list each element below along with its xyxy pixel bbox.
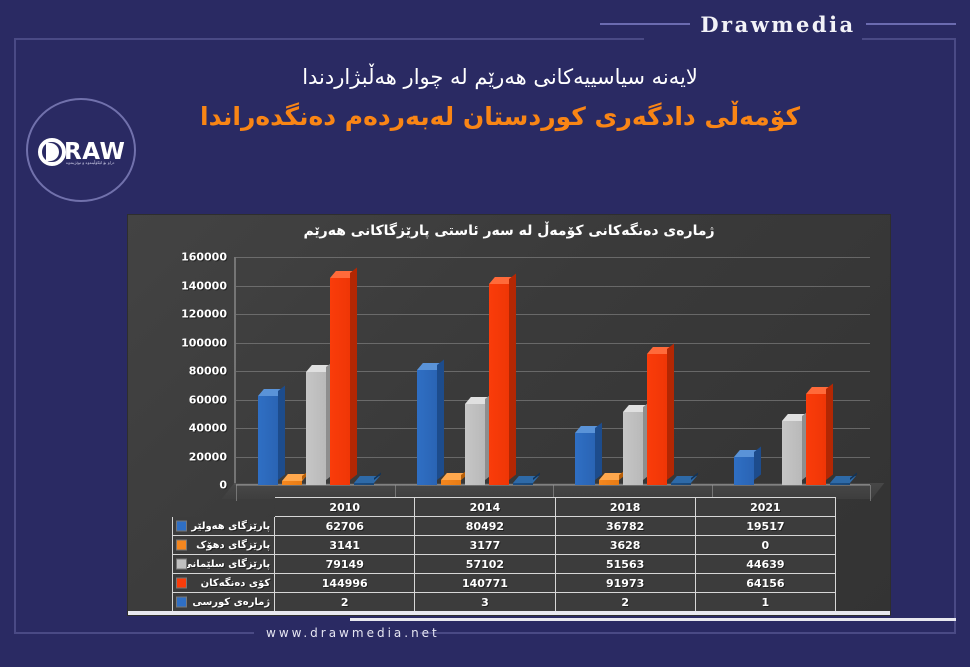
headline-block: لایەنە سیاسییەکانی هەرێم لە چوار هەڵبژار…	[150, 62, 850, 136]
footer: www.drawmedia.net	[14, 622, 956, 644]
chart-bar	[258, 396, 278, 485]
bar-front-face	[513, 483, 533, 485]
table-cell-value: 57102	[415, 555, 555, 574]
legend-label: پارێزگای سلێمانی	[182, 559, 270, 570]
legend-label: کۆی دەنگەکان	[201, 578, 271, 589]
bar-front-face	[671, 483, 691, 485]
bar-front-face	[306, 372, 326, 485]
table-cell-value: 0	[695, 536, 835, 555]
chart-bar	[306, 372, 326, 485]
chart-plot-area: 1600001400001200001000008000060000400002…	[236, 257, 870, 485]
brand-header: Drawmedia	[600, 6, 956, 42]
table-row-label: پارێزگای دهۆک	[173, 536, 275, 555]
table-cell-value: 64156	[695, 574, 835, 593]
chart-data-table: 2010201420182021 پارێزگای هەولێر62706804…	[172, 497, 836, 612]
table-cell-value: 1	[695, 593, 835, 612]
table-row-label: ژمارەی کورسی	[173, 593, 275, 612]
table-cell-value: 140771	[415, 574, 555, 593]
legend-label: پارێزگای دهۆک	[196, 540, 270, 551]
table-row: پارێزگای سلێمانی79149571025156344639	[173, 555, 836, 574]
chart-bar	[489, 284, 509, 485]
table-column-header-year: 2021	[695, 498, 835, 517]
table-row-label: پارێزگای سلێمانی	[173, 555, 275, 574]
table-row: کۆی دەنگەکان1449961407719197364156	[173, 574, 836, 593]
table-row: پارێزگای دهۆک3141317736280	[173, 536, 836, 555]
y-axis-tick-label: 160000	[181, 251, 227, 264]
bar-front-face	[782, 421, 802, 485]
table-row: ژمارەی کورسی2321	[173, 593, 836, 612]
table-cell-value: 36782	[555, 517, 695, 536]
bar-side-face	[509, 274, 516, 480]
headline-line-1: لایەنە سیاسییەکانی هەرێم لە چوار هەڵبژار…	[150, 62, 850, 92]
chart-bar	[282, 481, 302, 485]
y-axis-tick-label: 40000	[189, 422, 227, 435]
brand-title: Drawmedia	[700, 12, 855, 37]
bar-side-face	[667, 343, 674, 480]
table-cell-value: 3177	[415, 536, 555, 555]
table-cell-value: 144996	[275, 574, 415, 593]
table-cell-value: 3141	[275, 536, 415, 555]
footer-rule-right-divider	[452, 632, 956, 634]
chart-bar	[441, 480, 461, 485]
bar-side-face	[437, 360, 444, 480]
table-row-label: پارێزگای هەولێر	[173, 517, 275, 536]
brand-rule-left-divider	[600, 23, 690, 25]
chart-bar	[465, 404, 485, 485]
bar-front-face	[330, 278, 350, 485]
brand-rule-right-divider	[866, 23, 956, 25]
bar-side-face	[595, 422, 602, 480]
chart-bar-seats	[671, 483, 691, 485]
bar-side-face	[278, 385, 285, 480]
y-axis-tick-label: 80000	[189, 365, 227, 378]
legend-label: پارێزگای هەولێر	[191, 521, 270, 532]
bar-front-face	[806, 394, 826, 485]
table-column-header-year: 2018	[555, 498, 695, 517]
legend-swatch-icon	[176, 597, 187, 608]
bar-front-face	[354, 483, 374, 485]
logo-mark: RAW	[38, 132, 126, 172]
chart-panel: ژمارەی دەنگەکانی کۆمەڵ لە سەر ئاستی پارێ…	[128, 215, 890, 615]
legend-label: ژمارەی کورسی	[192, 597, 270, 608]
logo-subtitle: دراو بۆ لێکۆڵینەوە و توێژینەوە	[66, 160, 114, 165]
bar-side-face	[350, 268, 357, 480]
table-cell-value: 79149	[275, 555, 415, 574]
y-axis-tick-label: 60000	[189, 393, 227, 406]
bar-front-face	[623, 412, 643, 485]
chart-bar-seats	[354, 483, 374, 485]
chart-bar	[782, 421, 802, 485]
bar-front-face	[830, 483, 850, 485]
chart-bar	[417, 370, 437, 485]
headline-line-2: کۆمەڵی دادگەری کوردستان لەبەردەم دەنگدەر…	[150, 98, 850, 136]
footer-accent-bar	[350, 618, 956, 621]
table-cell-value: 3628	[555, 536, 695, 555]
table-header-row: 2010201420182021	[173, 498, 836, 517]
legend-swatch-icon	[176, 521, 187, 532]
table-cell-value: 19517	[695, 517, 835, 536]
y-axis-tick-label: 0	[219, 479, 227, 492]
chart-bar	[734, 457, 754, 485]
chart-bar	[647, 354, 667, 485]
draw-logo: RAW دراو بۆ لێکۆڵینەوە و توێژینەوە	[26, 98, 136, 202]
footer-website-url: www.drawmedia.net	[266, 626, 440, 640]
chart-title: ژمارەی دەنگەکانی کۆمەڵ لە سەر ئاستی پارێ…	[128, 223, 890, 239]
data-table-head: 2010201420182021	[173, 498, 836, 517]
table-cell-value: 44639	[695, 555, 835, 574]
table-cell-value: 91973	[555, 574, 695, 593]
table-column-header-year: 2014	[415, 498, 555, 517]
bar-front-face	[282, 481, 302, 485]
bar-side-face	[691, 473, 698, 480]
bar-group	[553, 257, 712, 485]
bar-front-face	[575, 433, 595, 485]
bar-side-face	[374, 473, 381, 480]
bar-group	[712, 257, 871, 485]
frame-border-left	[14, 38, 16, 634]
bar-front-face	[647, 354, 667, 485]
bar-side-face	[754, 447, 761, 480]
bar-front-face	[417, 370, 437, 485]
chart-bar	[599, 480, 619, 485]
y-axis-tick-label: 140000	[181, 279, 227, 292]
y-axis-tick-label: 20000	[189, 450, 227, 463]
bar-front-face	[599, 480, 619, 485]
y-axis-tick-label: 120000	[181, 308, 227, 321]
bar-front-face	[441, 480, 461, 485]
table-corner-cell	[173, 498, 275, 517]
table-cell-value: 80492	[415, 517, 555, 536]
table-cell-value: 51563	[555, 555, 695, 574]
table-row: پارێزگای هەولێر62706804923678219517	[173, 517, 836, 536]
y-axis-tick-label: 100000	[181, 336, 227, 349]
bar-front-face	[734, 457, 754, 485]
logo-d-icon	[38, 138, 66, 166]
table-row-label: کۆی دەنگەکان	[173, 574, 275, 593]
legend-swatch-icon	[176, 559, 187, 570]
table-cell-value: 62706	[275, 517, 415, 536]
chart-bar	[623, 412, 643, 485]
bar-front-face	[258, 396, 278, 485]
chart-bar-seats	[513, 483, 533, 485]
data-table-body: پارێزگای هەولێر62706804923678219517پارێز…	[173, 517, 836, 612]
bar-group	[395, 257, 554, 485]
footer-rule-left-divider	[14, 632, 254, 634]
table-column-header-year: 2010	[275, 498, 415, 517]
bar-front-face	[465, 404, 485, 485]
bar-group	[236, 257, 395, 485]
chart-bar	[575, 433, 595, 485]
legend-swatch-icon	[176, 540, 187, 551]
chart-bar	[806, 394, 826, 485]
chart-bar-seats	[830, 483, 850, 485]
bar-front-face	[489, 284, 509, 485]
legend-swatch-icon	[176, 578, 187, 589]
bar-side-face	[826, 383, 833, 480]
frame-border-right	[954, 38, 956, 634]
table-cell-value: 3	[415, 593, 555, 612]
table-cell-value: 2	[275, 593, 415, 612]
table-cell-value: 2	[555, 593, 695, 612]
frame-border-top-left	[14, 38, 644, 40]
chart-bar	[330, 278, 350, 485]
x-axis-tick	[870, 485, 871, 501]
